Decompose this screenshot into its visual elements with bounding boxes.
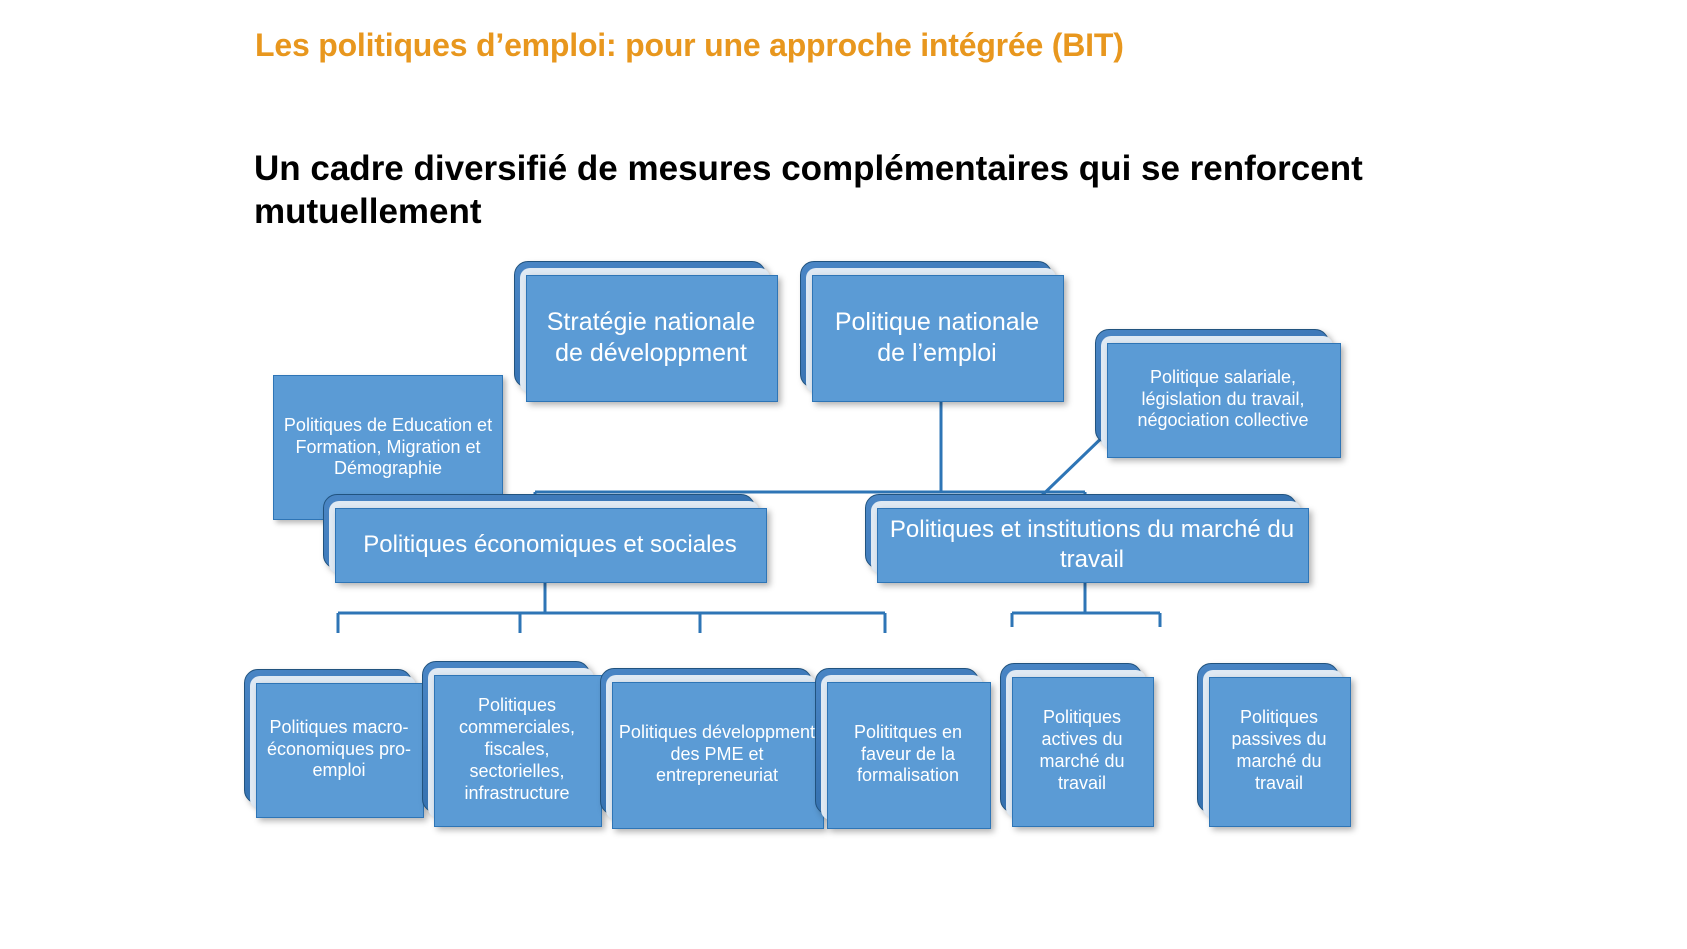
node-label: Politiques commerciales, fiscales, secto…	[440, 695, 594, 805]
node-politiques-formalisation[interactable]: Polititques en faveur de la formalisatio…	[827, 682, 989, 827]
node-label: Polititques en faveur de la formalisatio…	[833, 722, 983, 788]
node-politiques-passives-marche-travail[interactable]: Politiques passives du marché du travail	[1209, 677, 1349, 825]
node-label: Politique salariale, législation du trav…	[1113, 367, 1333, 433]
node-label: Politiques et institutions du marché du …	[883, 515, 1301, 574]
node-label: Politiques développment des PME et entre…	[618, 722, 816, 788]
node-politique-nationale-emploi[interactable]: Politique nationale de l’emploi	[812, 275, 1062, 400]
node-politiques-actives-marche-travail[interactable]: Politiques actives du marché du travail	[1012, 677, 1152, 825]
slide-canvas: Les politiques d’emploi: pour une approc…	[0, 0, 1687, 949]
page-title: Les politiques d’emploi: pour une approc…	[255, 26, 1555, 64]
node-label: Stratégie nationale de développment	[532, 307, 770, 368]
node-label: Politiques économiques et sociales	[341, 530, 759, 559]
org-chart-diagram: Stratégie nationale de développment Poli…	[0, 255, 1687, 815]
node-label: Politiques actives du marché du travail	[1018, 707, 1146, 795]
node-label: Politiques macro-économiques pro-emploi	[262, 717, 416, 783]
node-politique-salariale[interactable]: Politique salariale, législation du trav…	[1107, 343, 1339, 456]
node-politiques-macro-economiques[interactable]: Politiques macro-économiques pro-emploi	[256, 683, 422, 816]
node-label: Politiques de Education et Formation, Mi…	[280, 415, 496, 481]
node-strategie[interactable]: Stratégie nationale de développment	[526, 275, 776, 400]
node-label: Politiques passives du marché du travail	[1215, 707, 1343, 795]
node-label: Politique nationale de l’emploi	[818, 307, 1056, 368]
node-politiques-economiques-sociales[interactable]: Politiques économiques et sociales	[335, 508, 765, 581]
node-politiques-institutions-marche-travail[interactable]: Politiques et institutions du marché du …	[877, 508, 1307, 581]
node-politiques-commerciales-fiscales[interactable]: Politiques commerciales, fiscales, secto…	[434, 675, 600, 825]
page-subtitle: Un cadre diversifié de mesures complémen…	[254, 148, 1414, 233]
node-politiques-developpement-pme[interactable]: Politiques développment des PME et entre…	[612, 682, 822, 827]
